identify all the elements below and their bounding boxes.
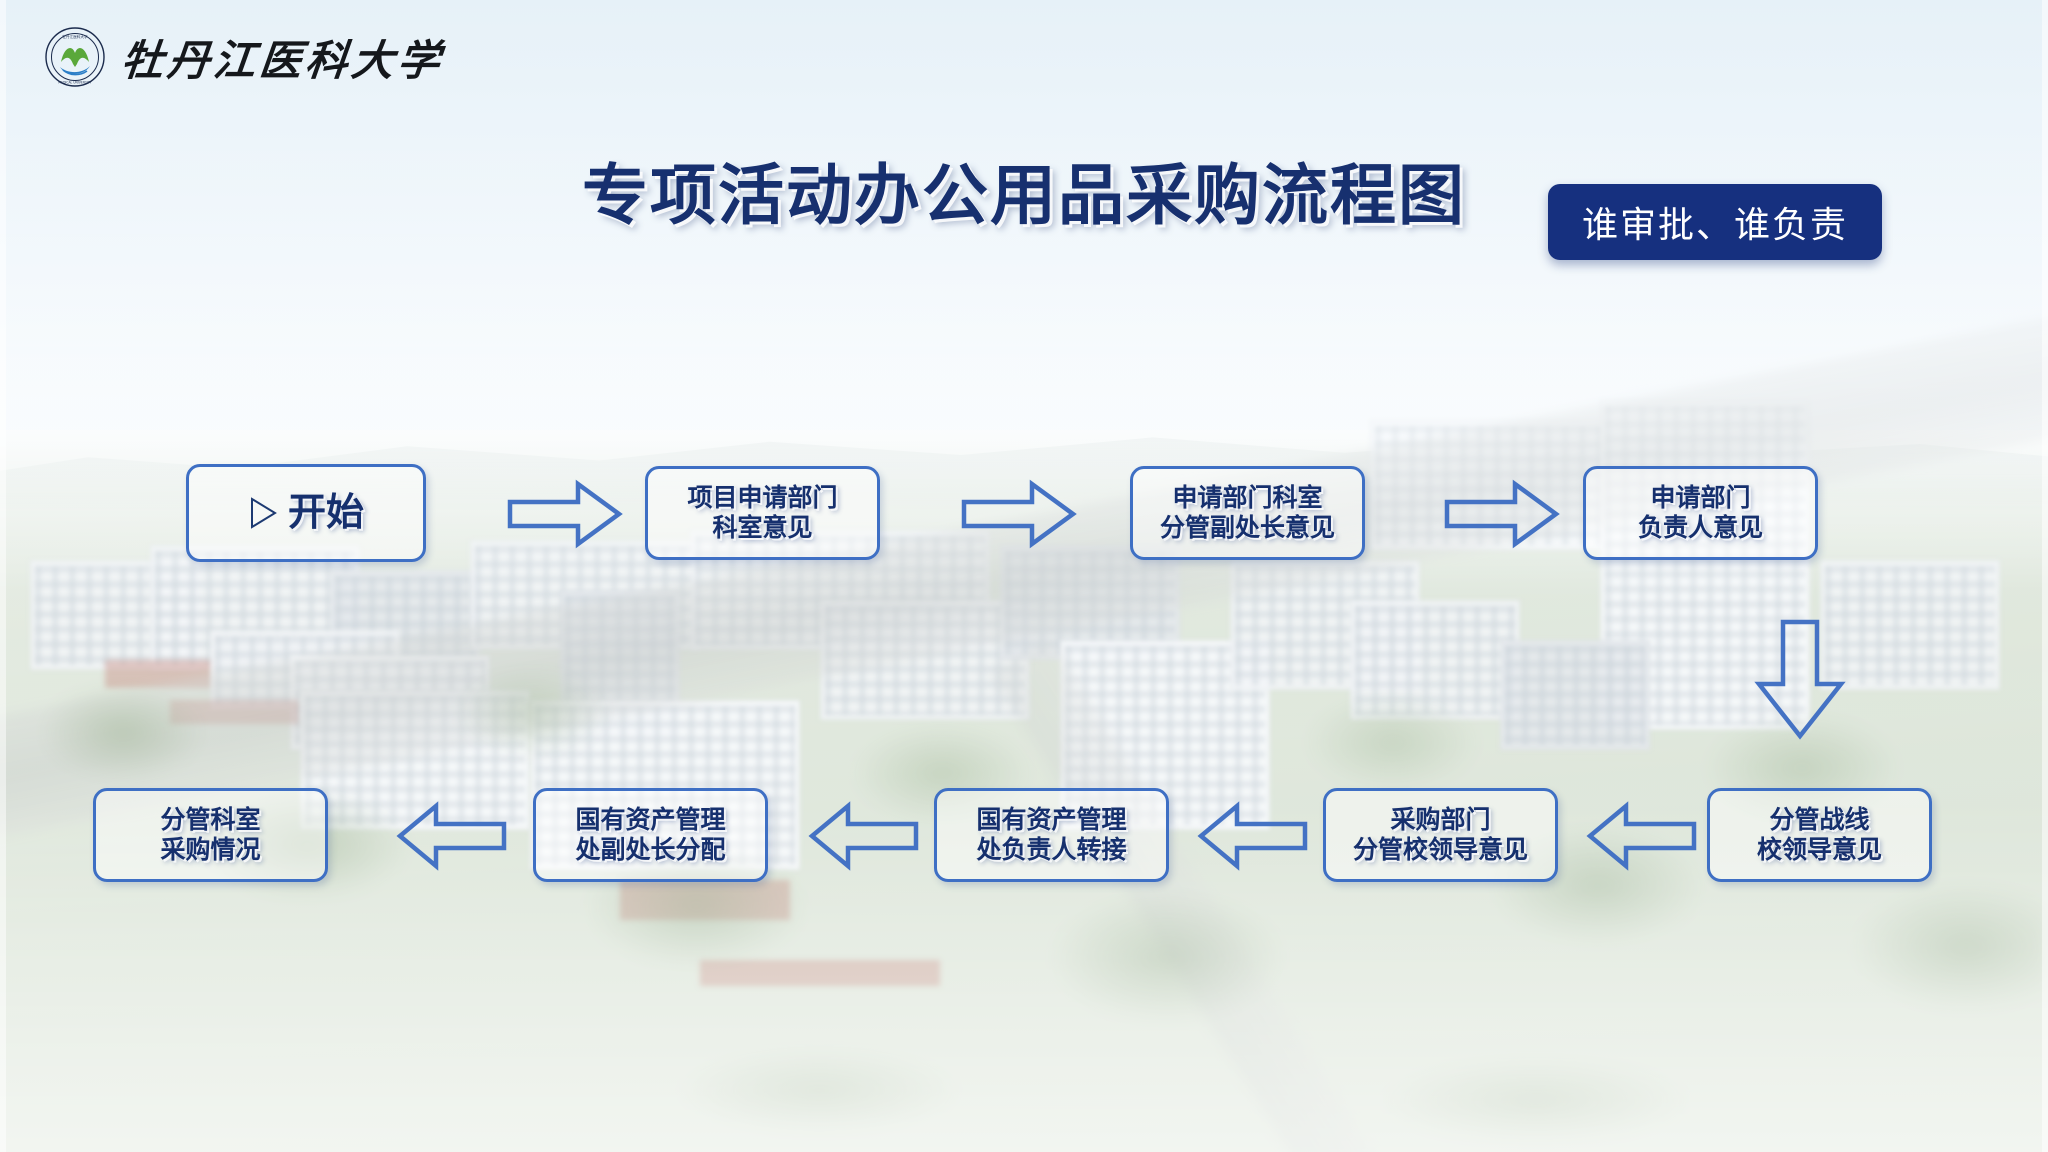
accountability-badge: 谁审批、谁负责 (1548, 184, 1882, 260)
flow-node-line2: 分管校领导意见 (1353, 835, 1528, 866)
flow-node-step-3[interactable]: 申请部门 负责人意见 (1583, 466, 1818, 560)
slide-root: 牡丹江医科大学 MEDICAL UNIVERSITY 牡丹江医科大学 专项活动办… (0, 0, 2048, 1152)
svg-text:牡丹江医科大学: 牡丹江医科大学 (62, 34, 88, 39)
flow-node-line2: 处副处长分配 (575, 835, 725, 866)
flow-node-line2: 负责人意见 (1638, 513, 1763, 544)
arrow-right-icon-3 (1443, 478, 1561, 550)
university-logo: 牡丹江医科大学 MEDICAL UNIVERSITY 牡丹江医科大学 (44, 26, 444, 88)
arrow-left-icon-2 (1197, 800, 1309, 872)
university-emblem-icon: 牡丹江医科大学 MEDICAL UNIVERSITY (44, 26, 106, 88)
arrow-down-icon (1752, 618, 1848, 742)
flow-node-step-1[interactable]: 项目申请部门 科室意见 (645, 466, 880, 560)
svg-text:MEDICAL UNIVERSITY: MEDICAL UNIVERSITY (58, 81, 91, 85)
flow-node-start-label: 开始 (288, 490, 364, 536)
flow-node-step-8[interactable]: 分管科室 采购情况 (93, 788, 328, 882)
flow-node-line1: 分管战线 (1769, 805, 1869, 836)
arrow-right-icon-1 (506, 478, 624, 550)
flow-node-line1: 采购部门 (1390, 805, 1490, 836)
university-name: 牡丹江医科大学 (119, 27, 447, 88)
flow-node-line1: 申请部门科室 (1172, 483, 1322, 514)
flow-node-line1: 分管科室 (160, 805, 260, 836)
flow-node-line2: 采购情况 (160, 835, 260, 866)
flow-node-line2: 校领导意见 (1757, 835, 1882, 866)
flow-node-line1: 国有资产管理 (575, 805, 725, 836)
flow-node-line2: 分管副处长意见 (1160, 513, 1335, 544)
flow-node-step-7[interactable]: 国有资产管理 处副处长分配 (533, 788, 768, 882)
flow-node-step-6[interactable]: 国有资产管理 处负责人转接 (934, 788, 1169, 882)
flow-node-step-4[interactable]: 分管战线 校领导意见 (1707, 788, 1932, 882)
arrow-left-icon-1 (1586, 800, 1698, 872)
flow-node-line1: 项目申请部门 (687, 483, 837, 514)
flow-node-line1: 国有资产管理 (976, 805, 1126, 836)
flow-node-line1: 申请部门 (1650, 483, 1750, 514)
arrow-left-icon-4 (396, 800, 508, 872)
play-triangle-icon (248, 496, 278, 530)
flow-node-step-5[interactable]: 采购部门 分管校领导意见 (1323, 788, 1558, 882)
flow-node-line2: 科室意见 (712, 513, 812, 544)
flow-node-line2: 处负责人转接 (976, 835, 1126, 866)
flow-node-start[interactable]: 开始 (186, 464, 426, 562)
arrow-left-icon-3 (808, 800, 920, 872)
flow-node-step-2[interactable]: 申请部门科室 分管副处长意见 (1130, 466, 1365, 560)
arrow-right-icon-2 (960, 478, 1078, 550)
